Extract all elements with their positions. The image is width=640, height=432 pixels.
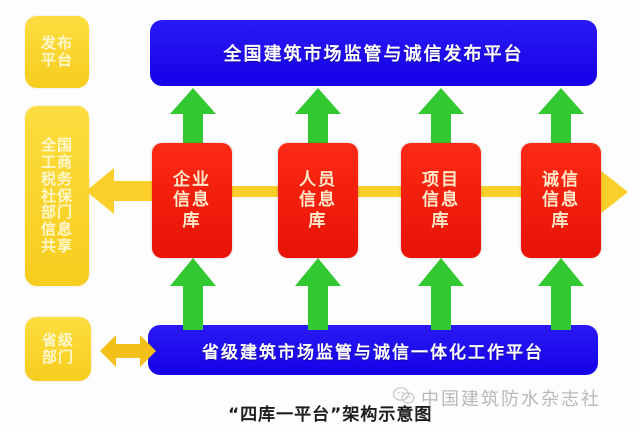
label-line: 信息 bbox=[41, 221, 73, 238]
db-label-line: 库 bbox=[552, 211, 571, 231]
green-up-arrow-to-top-icon bbox=[295, 88, 341, 150]
sharing-left-arrow-icon bbox=[86, 166, 152, 216]
green-up-arrow-to-top-icon bbox=[538, 88, 584, 150]
provincial-integrated-platform: 省级建筑市场监管与诚信一体化工作平台 bbox=[148, 325, 598, 375]
diagram-canvas: 发布 平台 全国 工商 税务 社保 部门 信息 共享 省级 部门 全国建筑市场监… bbox=[0, 0, 640, 432]
provincial-integrated-platform-label: 省级建筑市场监管与诚信一体化工作平台 bbox=[202, 338, 544, 363]
national-publishing-platform-label: 全国建筑市场监管与诚信发布平台 bbox=[224, 40, 524, 66]
green-up-arrow-to-top-icon bbox=[418, 88, 464, 150]
label-line: 部门 bbox=[42, 349, 74, 366]
db-label-line: 信息 bbox=[299, 190, 337, 210]
green-up-arrow-from-bottom-icon bbox=[538, 258, 584, 330]
label-line: 部门 bbox=[41, 204, 73, 221]
green-up-arrow-from-bottom-icon bbox=[295, 258, 341, 330]
label-line: 共享 bbox=[41, 238, 73, 255]
db-label-line: 信息 bbox=[173, 190, 211, 210]
personnel-info-database: 人员 信息 库 bbox=[278, 143, 358, 258]
green-up-arrow-to-top-icon bbox=[170, 88, 216, 150]
label-line: 工商 bbox=[41, 154, 73, 171]
label-line: 社保 bbox=[41, 188, 73, 205]
db-label-line: 人员 bbox=[299, 170, 337, 190]
watermark-text: 中国建筑防水杂志社 bbox=[421, 385, 601, 411]
db-label-line: 信息 bbox=[422, 190, 460, 210]
db-label-line: 库 bbox=[183, 211, 202, 231]
db-label-line: 项目 bbox=[422, 170, 460, 190]
green-up-arrow-from-bottom-icon bbox=[170, 258, 216, 330]
db-label-line: 诚信 bbox=[542, 170, 580, 190]
credit-info-database: 诚信 信息 库 bbox=[521, 143, 601, 258]
green-up-arrow-from-bottom-icon bbox=[418, 258, 464, 330]
label-publishing-platform: 发布 平台 bbox=[25, 16, 89, 88]
label-line: 省级 bbox=[42, 332, 74, 349]
diagram-caption-text: “四库一平台”架构示意图 bbox=[228, 405, 432, 425]
db-label-line: 库 bbox=[309, 211, 328, 231]
db-label-line: 库 bbox=[432, 211, 451, 231]
label-provincial-departments: 省级 部门 bbox=[25, 317, 91, 381]
enterprise-info-database: 企业 信息 库 bbox=[152, 143, 232, 258]
db-label-line: 企业 bbox=[173, 170, 211, 190]
project-info-database: 项目 信息 库 bbox=[401, 143, 481, 258]
diagram-caption: “四库一平台”架构示意图 bbox=[228, 400, 432, 425]
label-line: 平台 bbox=[41, 52, 73, 69]
label-line: 全国 bbox=[41, 137, 73, 154]
national-publishing-platform: 全国建筑市场监管与诚信发布平台 bbox=[150, 20, 597, 86]
label-national-departments-info-sharing: 全国 工商 税务 社保 部门 信息 共享 bbox=[25, 106, 89, 286]
label-line: 税务 bbox=[41, 171, 73, 188]
db-label-line: 信息 bbox=[542, 190, 580, 210]
label-line: 发布 bbox=[41, 35, 73, 52]
provincial-link-arrow-icon bbox=[100, 333, 156, 369]
